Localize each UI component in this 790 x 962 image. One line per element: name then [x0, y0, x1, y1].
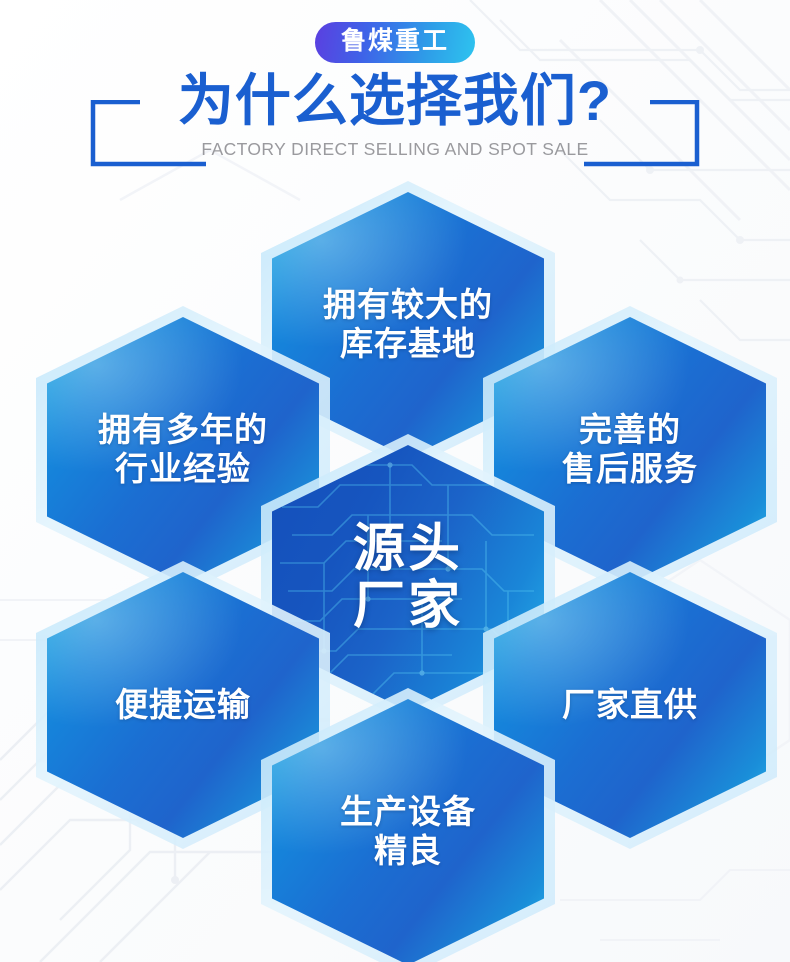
- hex-label: 拥有多年的 行业经验: [84, 411, 282, 489]
- brand-badge: 鲁煤重工: [315, 22, 475, 63]
- title-block: 为什么选择我们? FACTORY DIRECT SELLING AND SPOT…: [0, 72, 790, 160]
- hex-label: 便捷运输: [101, 686, 265, 725]
- why-choose-us-banner: 鲁煤重工 为什么选择我们? FACTORY DIRECT SELLING AND…: [0, 0, 790, 962]
- page-title: 为什么选择我们?: [0, 72, 790, 131]
- page-subtitle: FACTORY DIRECT SELLING AND SPOT SALE: [0, 139, 790, 160]
- hex-label: 生产设备 精良: [326, 793, 490, 871]
- hex-label: 完善的 售后服务: [548, 411, 712, 489]
- hex-bottom-fine-production-equipment[interactable]: 生产设备 精良: [272, 699, 544, 962]
- hex-label: 厂家直供: [548, 686, 712, 725]
- hex-label: 拥有较大的 库存基地: [309, 286, 507, 364]
- hex-label: 源头 厂家: [339, 521, 477, 635]
- banner-header: 鲁煤重工 为什么选择我们? FACTORY DIRECT SELLING AND…: [0, 0, 790, 195]
